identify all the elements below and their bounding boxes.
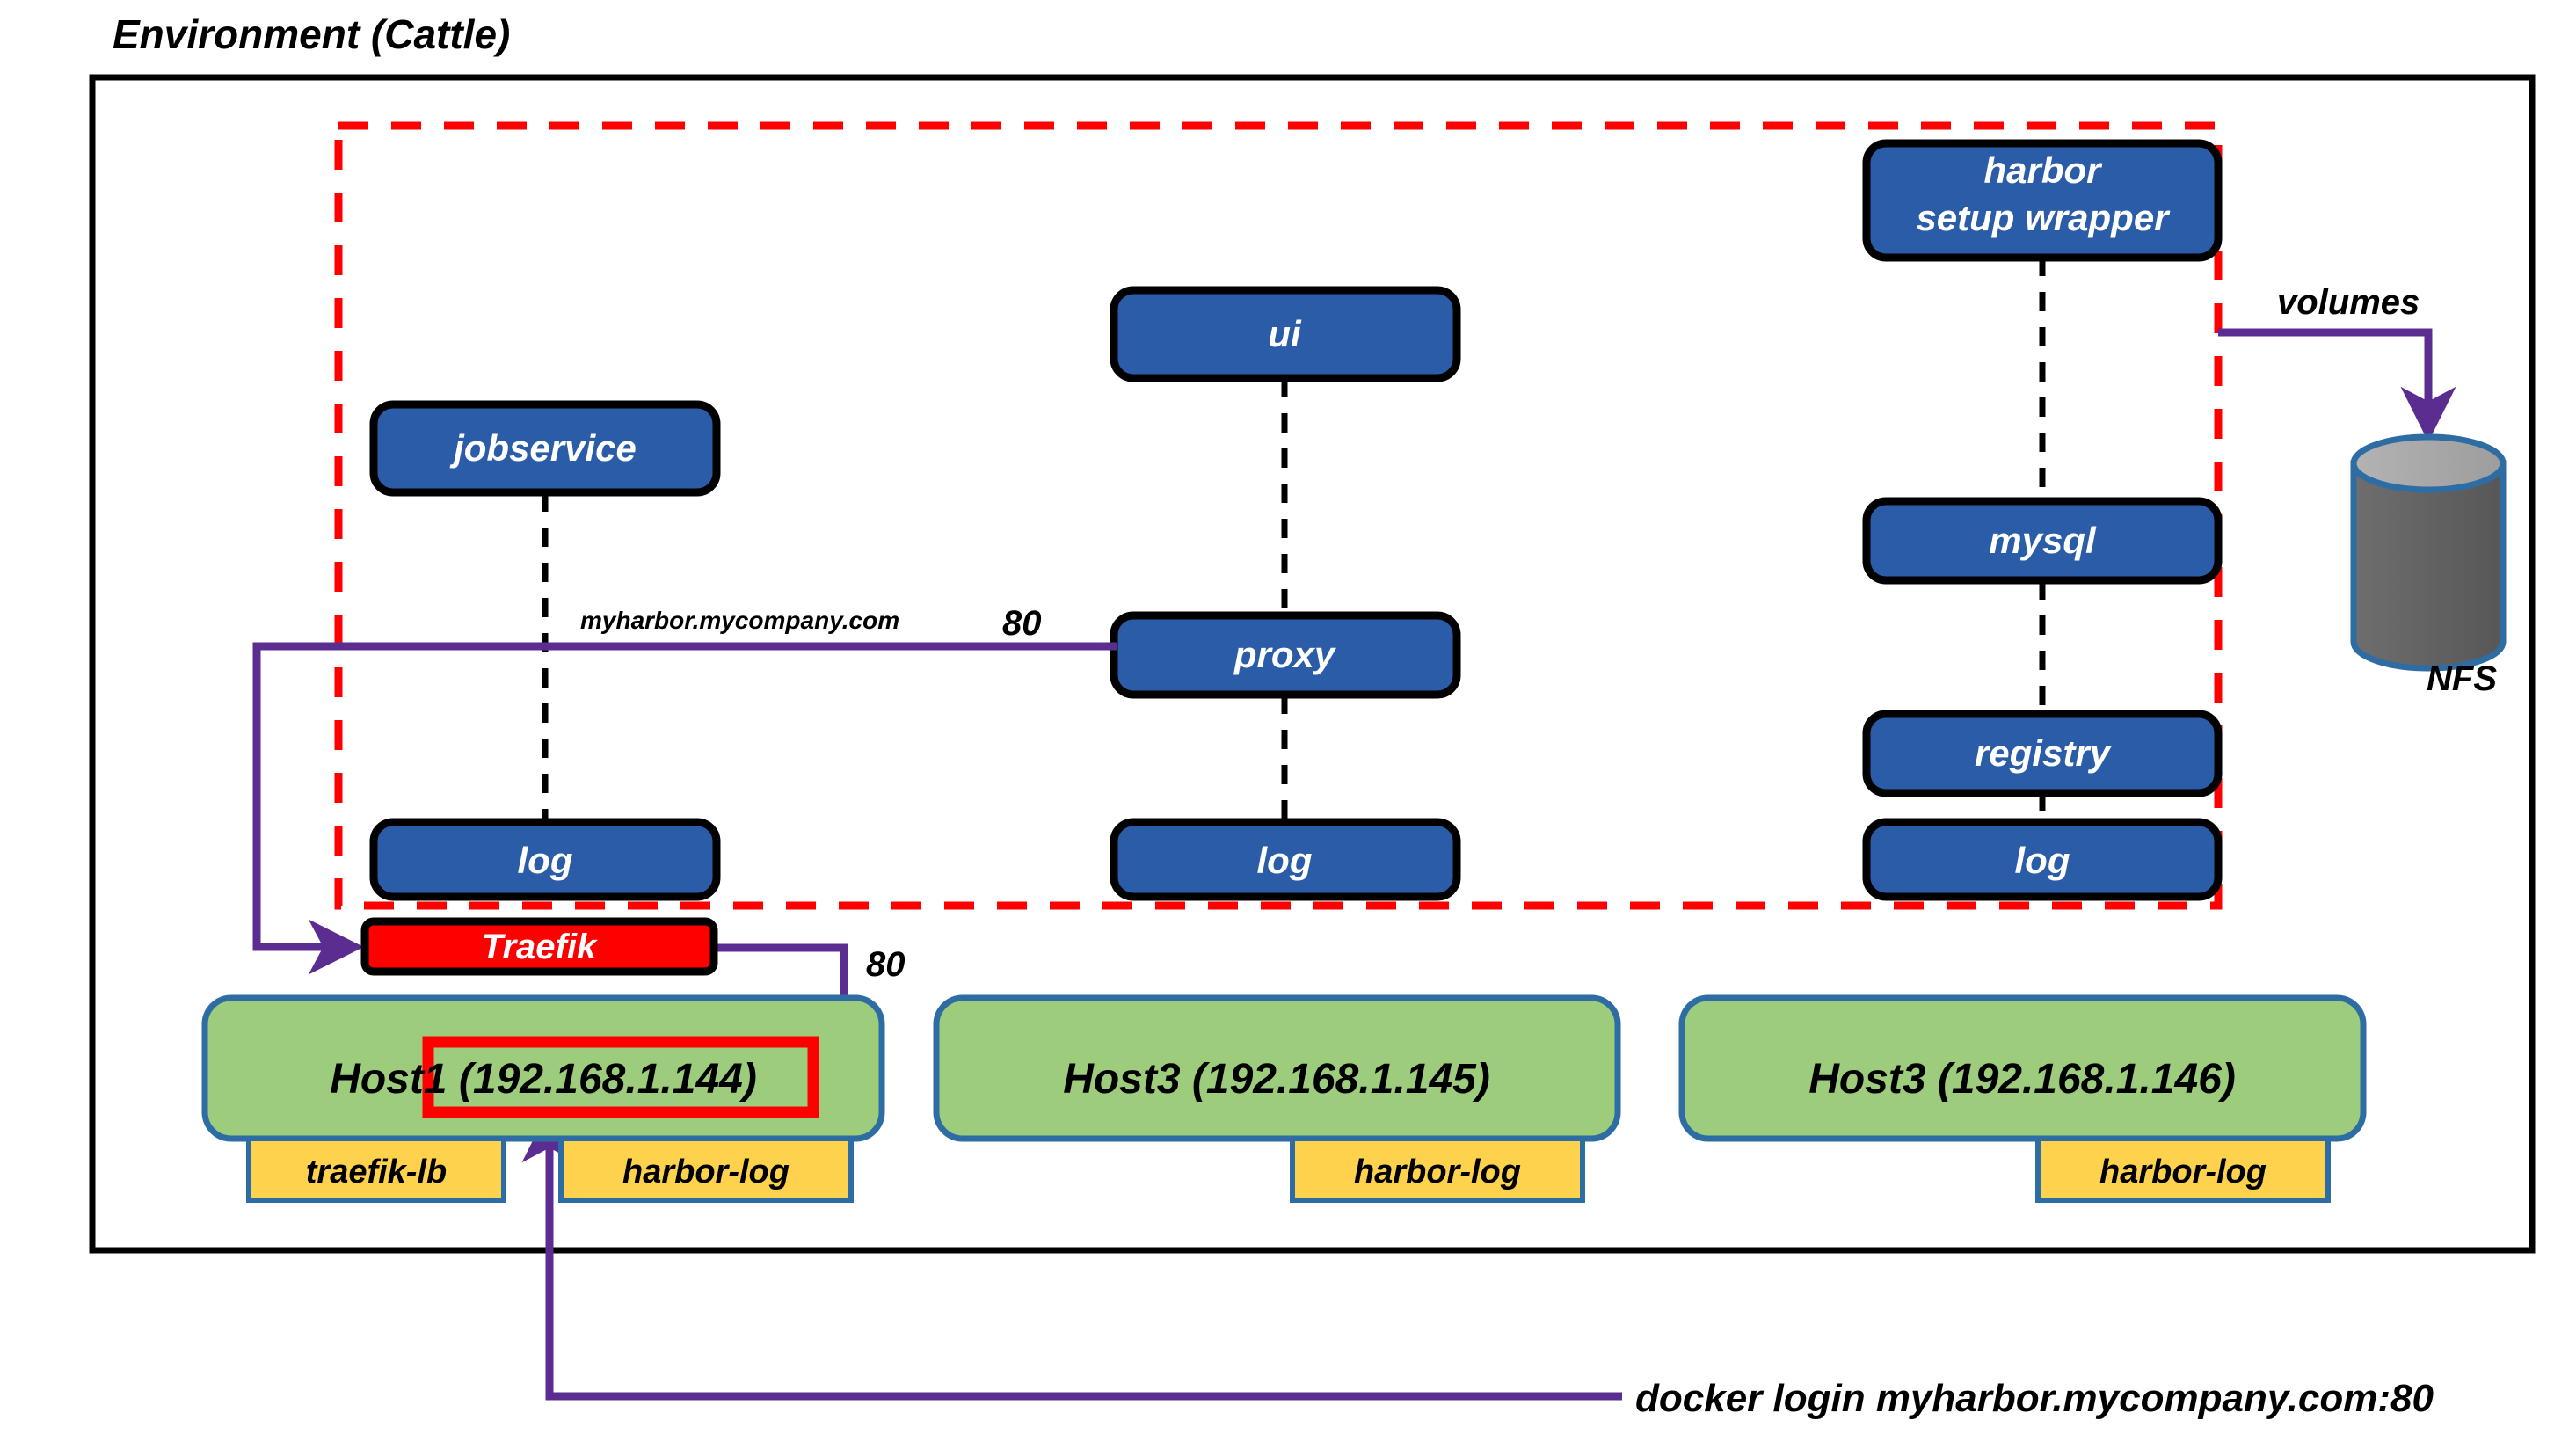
node-registry[interactable]: registry — [1867, 714, 2218, 793]
stack-badge-harbor-log-1-label: harbor-log — [622, 1154, 790, 1191]
volumes-route-to-nfs — [2218, 332, 2428, 428]
node-mysql[interactable]: mysql — [1867, 501, 2218, 580]
node-harbor-setup-wrapper[interactable]: harbor setup wrapper — [1867, 143, 2218, 258]
environment-title: Environment (Cattle) — [113, 11, 510, 57]
host-card-2-label: Host3 (192.168.1.145) — [1063, 1056, 1490, 1103]
stack-badge-harbor-log-3[interactable]: harbor-log — [2038, 1139, 2328, 1200]
traefik-label: Traefik — [482, 928, 598, 966]
traefik-port-label: 80 — [866, 945, 906, 984]
docker-login-command: docker login myharbor.mycompany.com:80 — [1635, 1377, 2434, 1420]
ingress-port-label: 80 — [1002, 604, 1042, 643]
node-log-right-label: log — [2015, 840, 2070, 881]
volumes-label: volumes — [2277, 283, 2420, 322]
node-harbor-setup-wrapper-line1: harbor — [1983, 149, 2103, 191]
host-card-1-label: Host1 (192.168.1.144) — [330, 1056, 757, 1103]
host-card-2[interactable]: Host3 (192.168.1.145) — [936, 998, 1618, 1139]
diagram-canvas: Environment (Cattle) jobservice log — [0, 0, 2576, 1449]
node-log-left[interactable]: log — [374, 822, 717, 897]
architecture-diagram: Environment (Cattle) jobservice log — [0, 0, 2576, 1449]
node-mysql-label: mysql — [1989, 520, 2097, 561]
traefik-loadbalancer[interactable]: Traefik — [365, 921, 714, 972]
stack-badge-traefik-lb-label: traefik-lb — [306, 1154, 447, 1191]
stack-badge-traefik-lb[interactable]: traefik-lb — [249, 1139, 504, 1200]
host-card-3[interactable]: Host3 (192.168.1.146) — [1682, 998, 2363, 1139]
node-registry-label: registry — [1975, 732, 2113, 774]
stack-badge-harbor-log-3-label: harbor-log — [2099, 1154, 2267, 1191]
node-log-middle-label: log — [1257, 840, 1313, 881]
node-log-middle[interactable]: log — [1114, 822, 1457, 897]
host-card-3-label: Host3 (192.168.1.146) — [1808, 1056, 2236, 1103]
nfs-label: NFS — [2427, 659, 2497, 698]
node-log-right[interactable]: log — [1867, 822, 2218, 897]
stack-badge-harbor-log-2-label: harbor-log — [1354, 1154, 1521, 1191]
node-ui-label: ui — [1268, 313, 1302, 354]
node-log-left-label: log — [518, 840, 573, 881]
node-proxy-label: proxy — [1233, 634, 1337, 675]
nfs-storage[interactable]: NFS — [2354, 437, 2503, 698]
stack-badge-harbor-log-1[interactable]: harbor-log — [561, 1139, 851, 1200]
node-jobservice-label: jobservice — [449, 427, 637, 469]
host-card-1[interactable]: Host1 (192.168.1.144) — [205, 998, 882, 1139]
node-harbor-setup-wrapper-line2: setup wrapper — [1916, 197, 2171, 238]
node-proxy[interactable]: proxy — [1114, 615, 1457, 695]
node-ui[interactable]: ui — [1114, 290, 1457, 378]
stack-badge-harbor-log-2[interactable]: harbor-log — [1292, 1139, 1583, 1200]
node-jobservice[interactable]: jobservice — [374, 404, 717, 492]
ingress-hostname-label: myharbor.mycompany.com — [580, 607, 899, 634]
